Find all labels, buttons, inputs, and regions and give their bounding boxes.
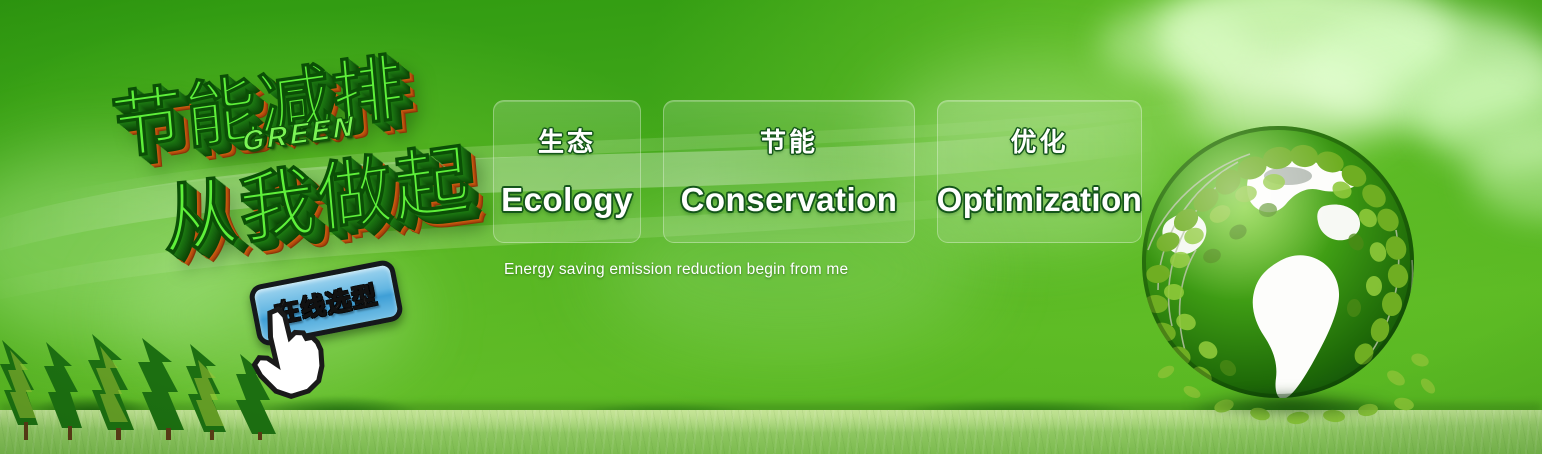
ivy-covered-globe-icon bbox=[1128, 110, 1448, 430]
feature-card-list: 生态 Ecology 节能 Conservation 优化 Optimizati… bbox=[493, 100, 1142, 243]
globe-shadow bbox=[1142, 382, 1438, 426]
feature-card-cn-label: 优化 bbox=[1010, 122, 1068, 159]
feature-card-cn-label: 节能 bbox=[760, 122, 818, 159]
feature-card-en-label: Conservation bbox=[681, 181, 898, 219]
feature-card-en-label: Optimization bbox=[937, 181, 1143, 219]
tagline: Energy saving emission reduction begin f… bbox=[504, 261, 848, 279]
feature-card-optimization[interactable]: 优化 Optimization bbox=[937, 100, 1142, 243]
feature-card-ecology[interactable]: 生态 Ecology bbox=[493, 100, 641, 243]
green-banner: 节能减排 从我做起 GREEN 在线选型 生态 Ecology 节能 Conse… bbox=[0, 0, 1542, 454]
pointing-hand-cursor-icon bbox=[236, 297, 339, 408]
headline-group: 节能减排 从我做起 GREEN bbox=[96, 30, 496, 280]
feature-card-cn-label: 生态 bbox=[538, 122, 596, 159]
feature-card-en-label: Ecology bbox=[501, 181, 633, 219]
feature-card-conservation[interactable]: 节能 Conservation bbox=[663, 100, 915, 243]
